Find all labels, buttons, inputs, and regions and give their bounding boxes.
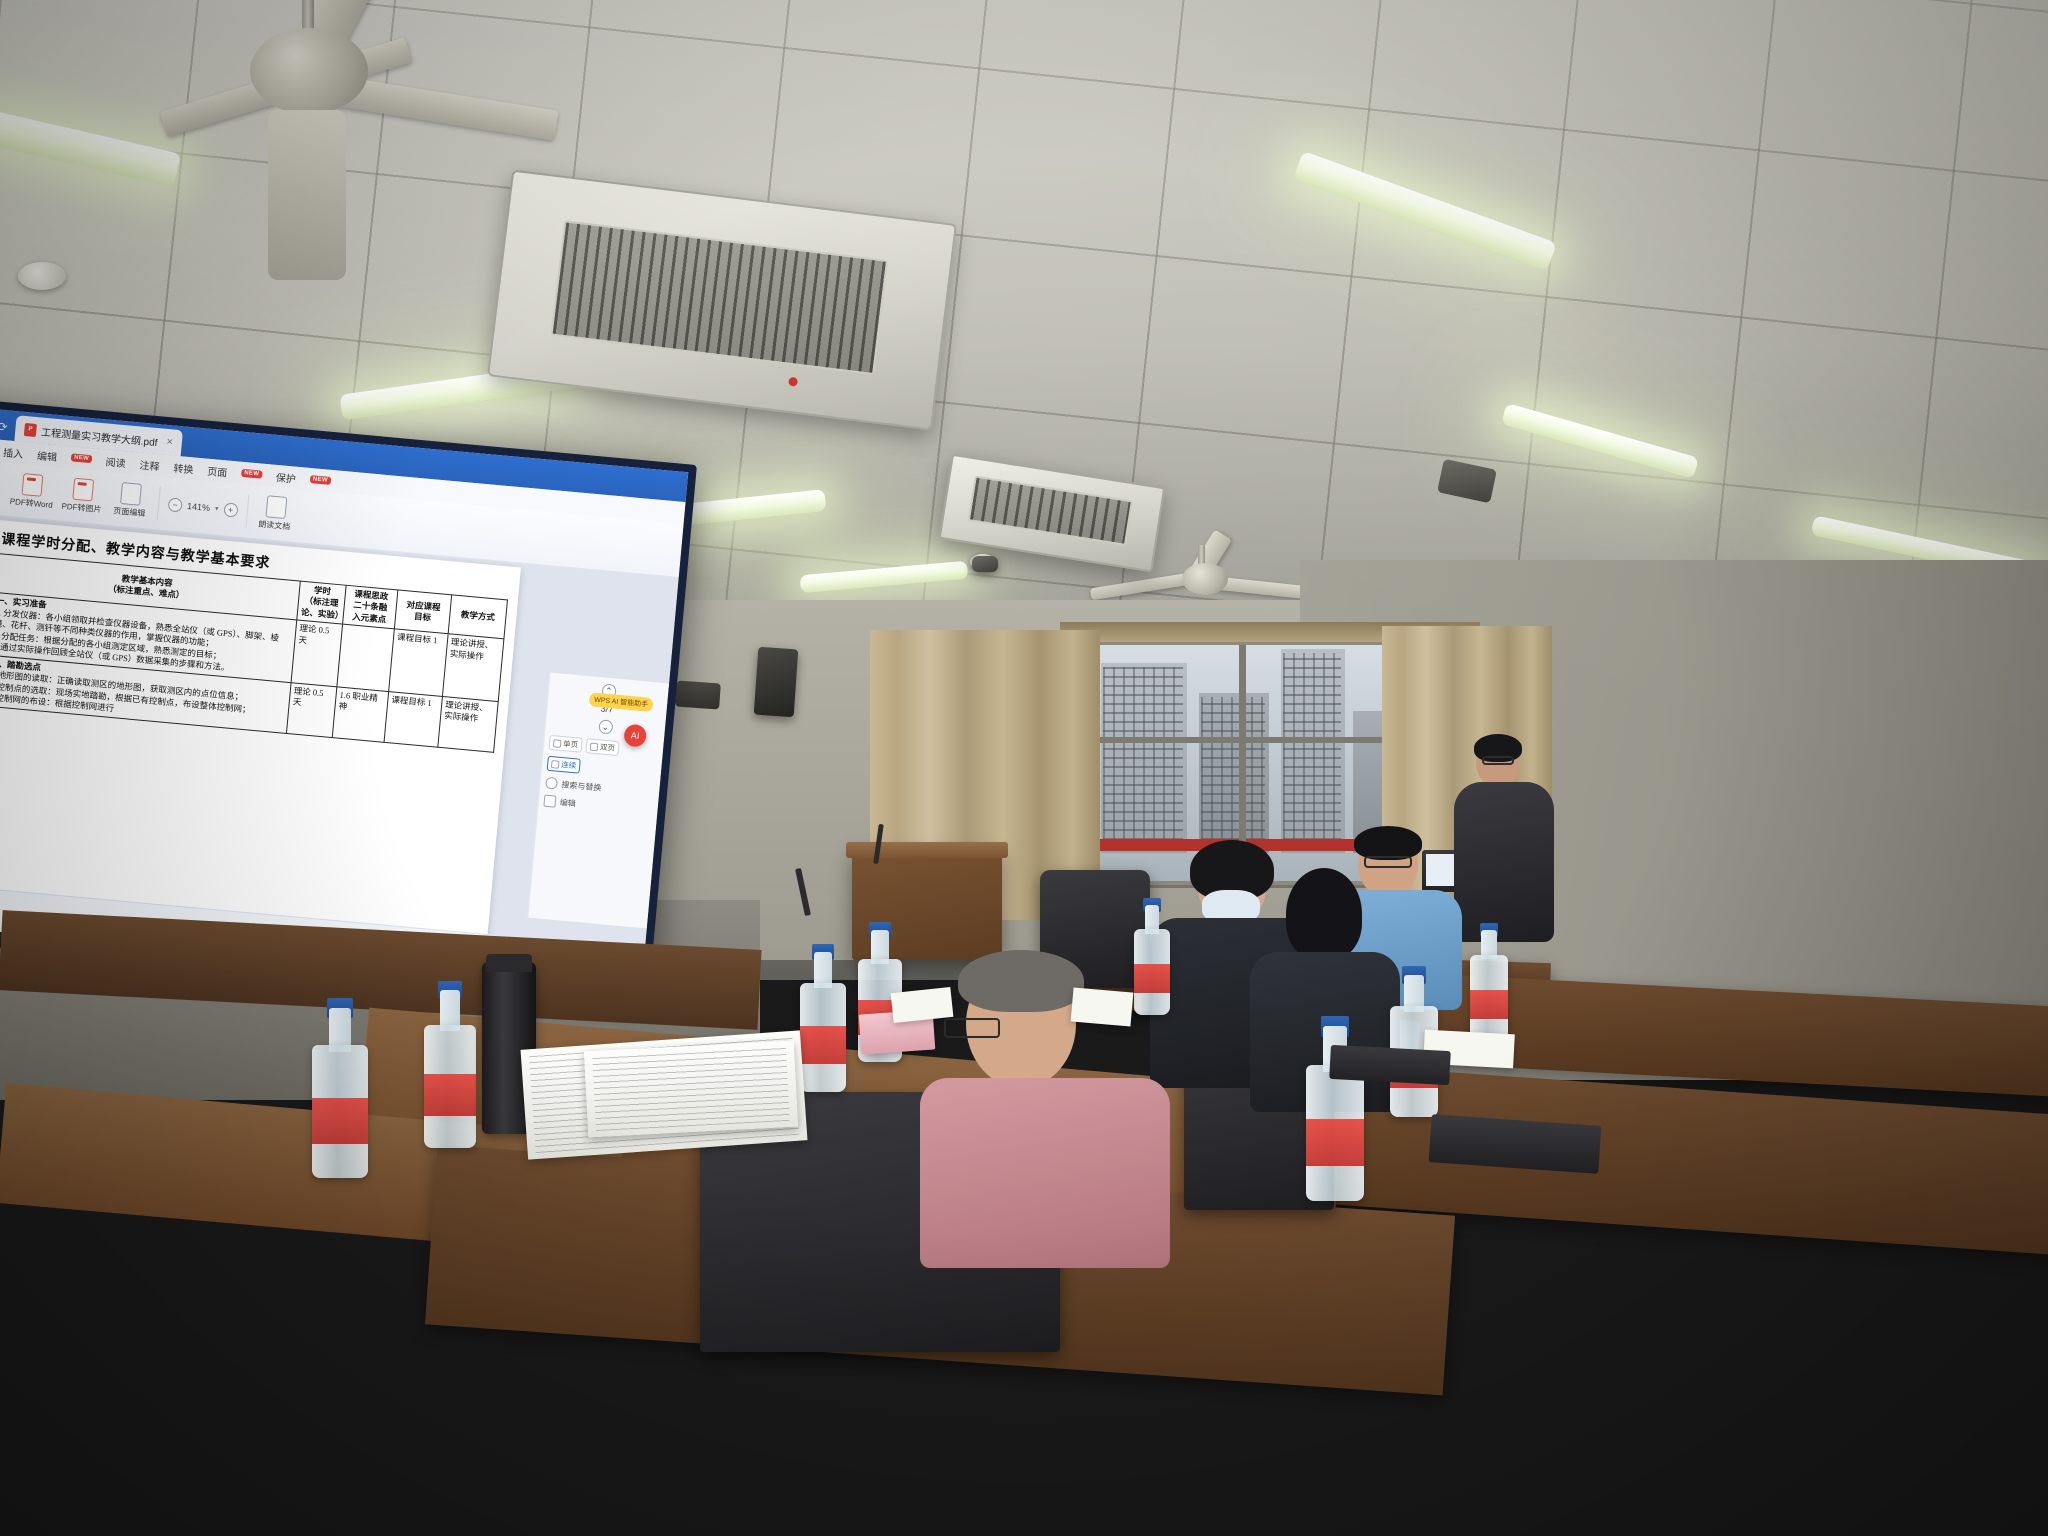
cell-mode: 理论讲授、实际操作	[442, 634, 503, 701]
glasses	[944, 1018, 1000, 1038]
double-page-icon	[590, 742, 599, 751]
pdf-to-image-icon	[72, 478, 94, 502]
bottle-label	[1134, 964, 1170, 993]
glasses	[1364, 856, 1412, 868]
open-textbook	[584, 1041, 798, 1138]
glasses	[1482, 756, 1514, 765]
laptop	[1329, 1045, 1451, 1085]
ribbon-label: 页面编辑	[113, 505, 146, 519]
pdf-file-icon: P	[24, 422, 37, 436]
col-header-mode: 教学方式	[448, 595, 507, 639]
fan-downrod	[1198, 545, 1205, 565]
ribbon-divider	[245, 494, 249, 528]
cell-hours: 理论 0.5 天	[291, 620, 342, 686]
bottle-label	[312, 1098, 368, 1143]
bottle-body	[800, 983, 846, 1092]
ribbon-label: PDF转图片	[61, 501, 102, 516]
fan-motor	[250, 28, 368, 114]
torso	[920, 1078, 1170, 1268]
water-bottle	[312, 1008, 368, 1178]
podium-top	[846, 842, 1008, 858]
menu-item-protect[interactable]: 保护	[275, 468, 296, 485]
cell-hours: 理论 0.5 天	[286, 682, 336, 737]
bottle-label	[1306, 1119, 1364, 1165]
new-badge: NEW	[241, 469, 263, 479]
wall-speaker	[754, 647, 799, 718]
menu-item-convert[interactable]: 转换	[173, 459, 194, 476]
edit-label: 编辑	[559, 797, 576, 809]
bottle-body	[1306, 1065, 1364, 1202]
col-header-goal: 对应课程 目标	[394, 590, 451, 634]
projector-mount	[675, 680, 721, 709]
bottle-body	[424, 1025, 476, 1148]
pdf-to-word-icon	[22, 473, 44, 497]
hair	[958, 950, 1084, 1012]
photo-scene: ⌂ ⟳ P 工程测量实习教学大纲.pdf × 开始 插入 编辑 NEW 阅读 注…	[0, 0, 2048, 1536]
col-header-ideology: 课程思政 二十条融 入元素点	[343, 585, 398, 629]
search-replace-label: 搜索与替换	[561, 779, 602, 794]
bottle-label	[424, 1074, 476, 1116]
view-mode-single[interactable]: 单页	[549, 735, 583, 753]
menu-item-annotate[interactable]: 注释	[139, 456, 160, 473]
person-standing-presenter	[1452, 738, 1562, 938]
close-icon[interactable]: ×	[166, 436, 173, 449]
zoom-out-button[interactable]: −	[168, 497, 183, 512]
ribbon-pdf-to-word-button[interactable]: PDF转Word	[9, 472, 55, 511]
thermos-cap	[486, 954, 532, 972]
bottle-body	[312, 1045, 368, 1178]
cell-mode: 理论讲授、实际操作	[438, 696, 498, 752]
water-bottle	[1470, 930, 1508, 1042]
smoke-detector	[18, 262, 66, 290]
paper-sheet	[891, 987, 954, 1023]
zoom-value: 141%	[187, 501, 211, 513]
new-badge: NEW	[71, 453, 93, 463]
cell-goal: 课程目标 1	[384, 691, 442, 747]
view-mode-group-2: 连续	[547, 756, 657, 781]
screen-display[interactable]: ⌂ ⟳ P 工程测量实习教学大纲.pdf × 开始 插入 编辑 NEW 阅读 注…	[0, 407, 688, 969]
new-badge: NEW	[310, 475, 332, 485]
bottle-label	[1470, 990, 1508, 1020]
paper-sheet	[1071, 987, 1134, 1026]
view-mode-double[interactable]: 双页	[585, 738, 619, 756]
ribbon-insert-button[interactable]: 插入	[0, 468, 4, 506]
search-icon	[545, 777, 558, 790]
zoom-control-group: − 141% ▾ +	[168, 497, 239, 517]
continuous-icon	[551, 760, 560, 769]
read-aloud-icon	[265, 495, 287, 519]
document-viewport[interactable]: 四、课程学时分配、教学内容与教学基本要求 序 号 教学基本内容 （标注重点	[0, 512, 679, 948]
menu-item-edit[interactable]: 编辑	[37, 447, 58, 464]
bottle-body	[1470, 955, 1508, 1042]
bottle-label	[800, 1026, 846, 1063]
menu-item-insert[interactable]: 插入	[3, 444, 24, 461]
water-bottle	[800, 952, 846, 1092]
cell-ideology: 1.6 职业精神	[332, 687, 388, 742]
ribbon-label: 朗读文档	[258, 519, 291, 533]
col-header-hours: 学时 （标注理 论、实验）	[297, 581, 346, 624]
menu-item-read[interactable]: 阅读	[105, 453, 126, 470]
hair	[1286, 868, 1362, 960]
cell-ideology	[337, 625, 394, 692]
hair	[1354, 826, 1422, 860]
page-edit-icon	[120, 482, 142, 506]
fan-motor	[1182, 563, 1228, 595]
page-next-button[interactable]: ⌄	[598, 719, 613, 734]
view-mode-continuous[interactable]: 连续	[547, 756, 581, 774]
ribbon-divider	[157, 486, 161, 520]
water-bottle	[424, 990, 476, 1148]
cell-goal: 课程目标 1	[389, 629, 448, 696]
pdf-page: 四、课程学时分配、教学内容与教学基本要求 序 号 教学基本内容 （标注重点	[0, 517, 521, 949]
bottle-body	[1134, 929, 1170, 1015]
edit-row[interactable]: 编辑	[543, 795, 653, 817]
pencil-icon	[543, 795, 556, 808]
ceiling-speaker	[972, 556, 998, 572]
zoom-in-button[interactable]: +	[223, 502, 238, 517]
menu-item-page[interactable]: 页面	[207, 462, 228, 479]
single-page-icon	[553, 739, 562, 748]
ribbon-pdf-to-image-button[interactable]: PDF转图片	[61, 477, 104, 515]
ribbon-page-edit-button[interactable]: 页面编辑	[110, 481, 151, 519]
torso	[1454, 782, 1554, 942]
chevron-down-icon[interactable]: ▾	[215, 504, 219, 512]
textbook-lines	[592, 1047, 790, 1131]
ribbon-read-aloud-button[interactable]: 朗读文档	[255, 494, 296, 532]
ribbon-label: PDF转Word	[9, 496, 53, 511]
water-bottle	[1134, 905, 1170, 1015]
